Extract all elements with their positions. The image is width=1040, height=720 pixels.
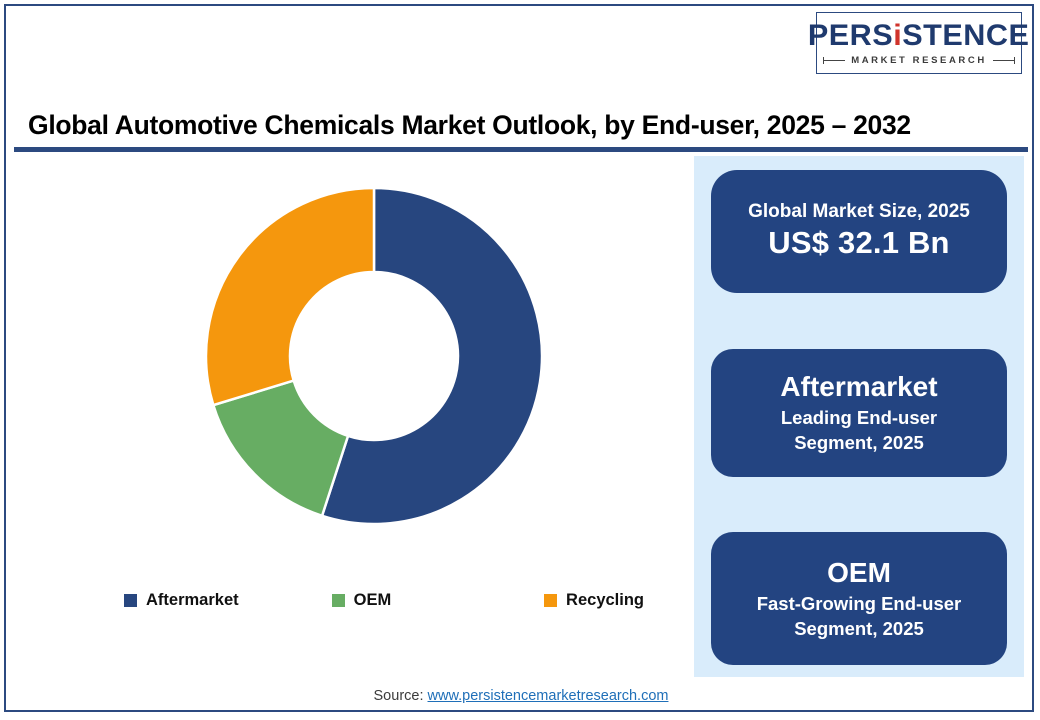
chart-legend: Aftermarket OEM Recycling — [124, 591, 644, 610]
stat-card-leading-segment: Aftermarket Leading End-user Segment, 20… — [711, 349, 1007, 477]
stat-card-market-size-value: US$ 32.1 Bn — [768, 224, 949, 263]
brand-logo-subtitle: MARKET RESEARCH — [851, 55, 987, 66]
source-link[interactable]: www.persistencemarketresearch.com — [428, 688, 669, 704]
legend-label-recycling: Recycling — [566, 591, 644, 610]
chart-area: Aftermarket OEM Recycling — [14, 156, 698, 676]
page-title: Global Automotive Chemicals Market Outlo… — [28, 110, 911, 141]
brand-logo-word-part1: PERS — [808, 19, 893, 52]
legend-label-oem: OEM — [354, 591, 392, 610]
stat-card-fast-growing-segment: OEM Fast-Growing End-user Segment, 2025 — [711, 532, 1007, 665]
brand-logo: PERSiSTENCE MARKET RESEARCH — [816, 12, 1022, 74]
stat-card-leading-segment-name: Aftermarket — [780, 369, 937, 405]
brand-logo-subtitle-row: MARKET RESEARCH — [817, 55, 1021, 66]
stat-card-leading-segment-line2: Segment, 2025 — [794, 431, 924, 456]
legend-item-oem: OEM — [332, 591, 544, 610]
donut-slice-oem[interactable] — [213, 381, 348, 516]
donut-chart-svg — [206, 188, 542, 524]
infographic-page: PERSiSTENCE MARKET RESEARCH Global Autom… — [4, 4, 1034, 712]
stat-card-leading-segment-line1: Leading End-user — [781, 406, 937, 431]
brand-logo-word-part2: STENCE — [903, 19, 1030, 52]
source-label: Source: — [374, 688, 428, 704]
stat-card-market-size-label: Global Market Size, 2025 — [748, 200, 970, 225]
donut-chart — [206, 188, 542, 524]
dash-right-icon — [993, 60, 1015, 61]
stat-card-fast-growing-segment-line2: Segment, 2025 — [794, 617, 924, 642]
legend-swatch-recycling — [544, 594, 557, 607]
legend-label-aftermarket: Aftermarket — [146, 591, 239, 610]
stat-card-fast-growing-segment-line1: Fast-Growing End-user — [757, 592, 962, 617]
title-underline-rule — [14, 147, 1028, 152]
legend-swatch-oem — [332, 594, 345, 607]
brand-logo-wordmark: PERSiSTENCE — [808, 21, 1030, 51]
donut-slice-recycling[interactable] — [206, 188, 374, 405]
stat-card-market-size: Global Market Size, 2025 US$ 32.1 Bn — [711, 170, 1007, 293]
source-line: Source: www.persistencemarketresearch.co… — [6, 688, 1036, 704]
dash-left-icon — [823, 60, 845, 61]
stat-card-fast-growing-segment-name: OEM — [827, 555, 891, 591]
legend-swatch-aftermarket — [124, 594, 137, 607]
legend-item-aftermarket: Aftermarket — [124, 591, 332, 610]
legend-item-recycling: Recycling — [544, 591, 644, 610]
donut-slice-group — [206, 188, 542, 524]
highlights-panel: Global Market Size, 2025 US$ 32.1 Bn Aft… — [694, 156, 1024, 677]
